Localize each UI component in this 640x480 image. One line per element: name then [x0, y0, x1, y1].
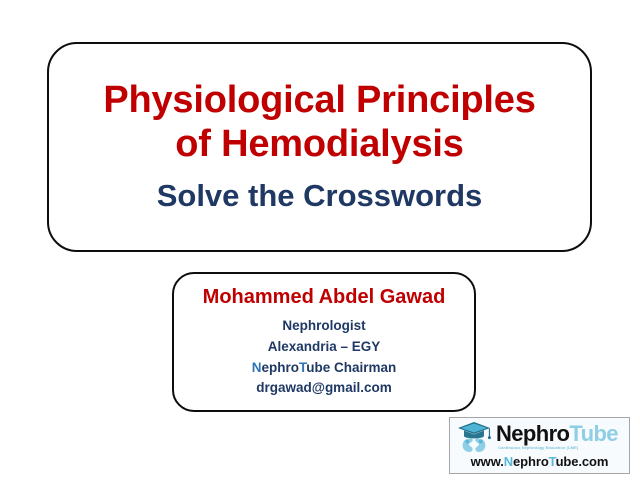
logo-website-url[interactable]: www.NephroTube.com [450, 454, 629, 469]
presentation-slide: Physiological Principles of Hemodialysis… [0, 0, 640, 480]
title-line-1: Physiological Principles [103, 79, 535, 122]
logo-top-row: NephroTube Continuous Nephrology Educati… [450, 418, 629, 454]
author-box: Mohammed Abdel Gawad Nephrologist Alexan… [172, 272, 476, 412]
author-role-suffix: ube Chairman [306, 360, 396, 375]
title-line-2: of Hemodialysis [175, 123, 463, 166]
graduation-cap-kidneys-icon [453, 419, 495, 453]
author-location: Alexandria – EGY [268, 337, 381, 358]
logo-word-tube: Tube [569, 421, 618, 446]
url-ube: ube [556, 454, 579, 469]
author-role-mid: ephro [261, 360, 299, 375]
title-subtitle: Solve the Crosswords [157, 178, 483, 214]
title-box: Physiological Principles of Hemodialysis… [47, 42, 592, 252]
author-role: NephroTube Chairman [252, 358, 397, 379]
author-email: drgawad@gmail.com [256, 378, 391, 399]
url-t: T [549, 454, 556, 469]
logo-tagline: Continuous Nephrology Education (CME) [498, 446, 618, 450]
author-name: Mohammed Abdel Gawad [203, 285, 446, 309]
logo-word: NephroTube [496, 423, 618, 445]
logo-word-nephro: Nephro [496, 421, 569, 446]
url-ephro: ephro [513, 454, 549, 469]
url-n: N [504, 454, 513, 469]
url-www: www. [471, 454, 504, 469]
author-role-n: N [252, 360, 262, 375]
author-specialty: Nephrologist [282, 316, 365, 337]
logo-wordmark: NephroTube Continuous Nephrology Educati… [496, 423, 618, 450]
url-com: .com [578, 454, 608, 469]
nephrotube-logo[interactable]: NephroTube Continuous Nephrology Educati… [449, 417, 630, 474]
